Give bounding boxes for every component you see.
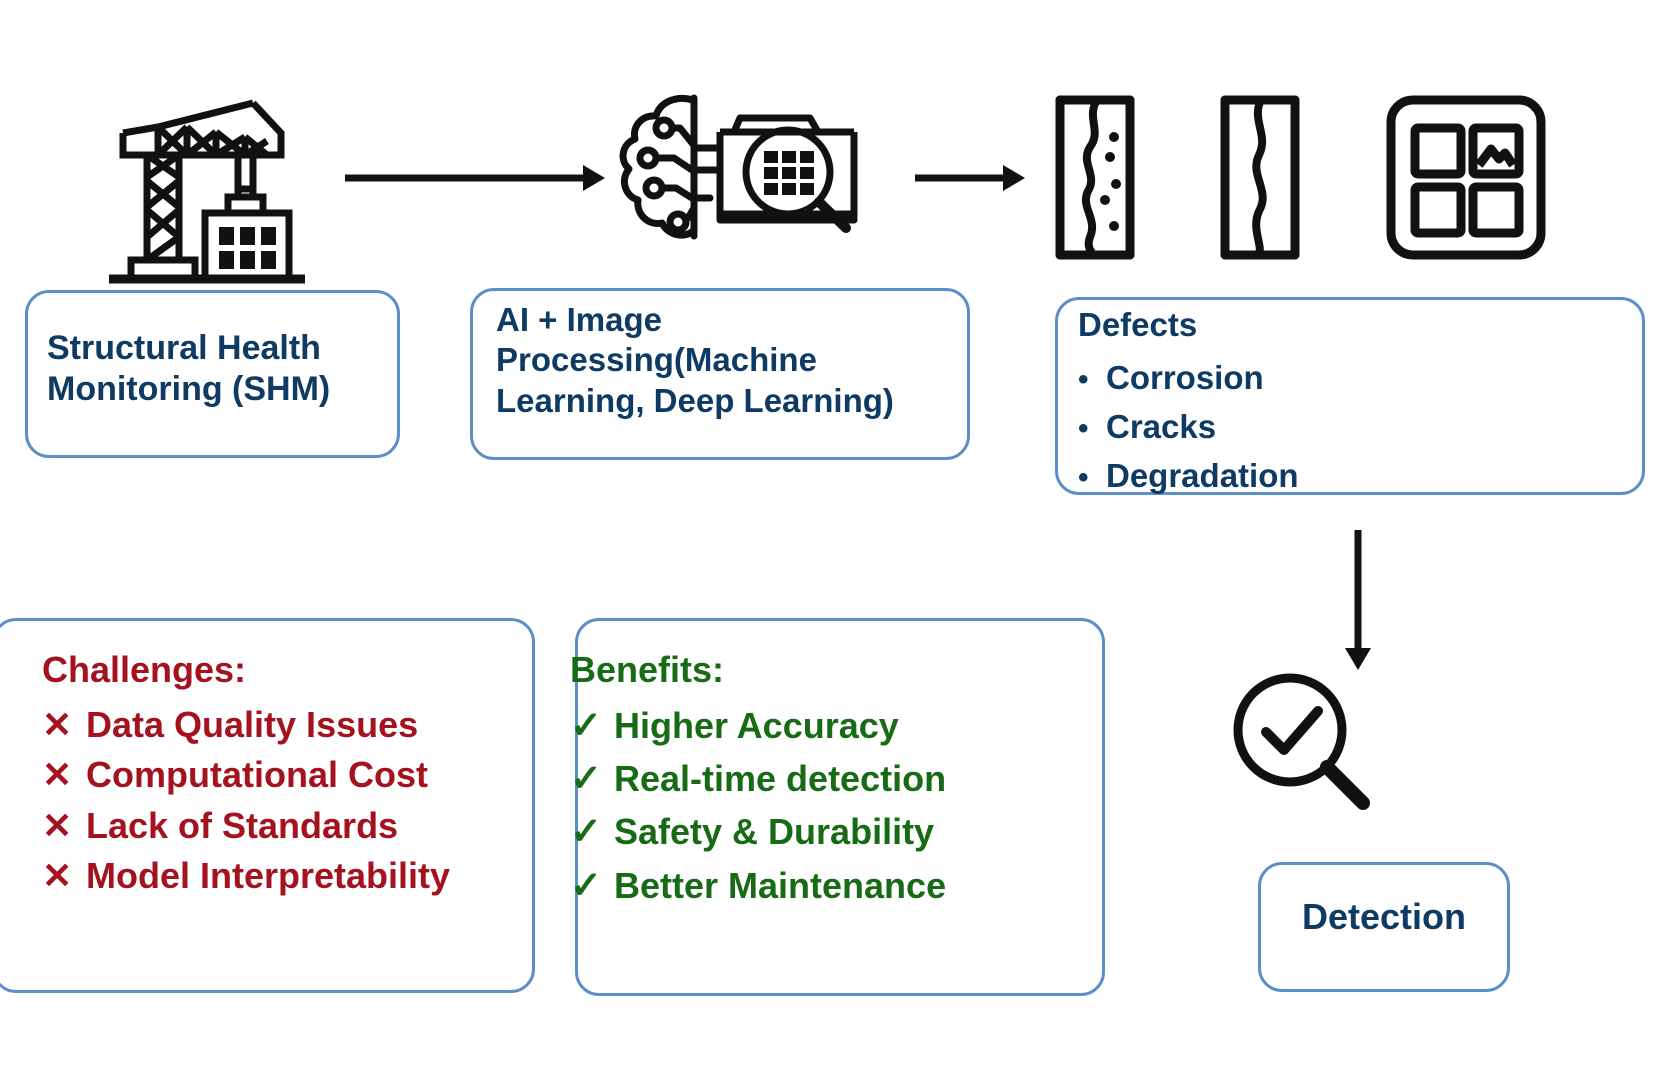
challenge-label: Lack of Standards: [86, 801, 398, 851]
challenges-title: Challenges:: [42, 652, 246, 688]
defect-label: Corrosion: [1106, 354, 1264, 403]
benefits-list: ✓ Higher Accuracy ✓ Real-time detection …: [570, 700, 946, 913]
benefits-title: Benefits:: [570, 652, 724, 688]
arrow-shm-to-ai: [345, 158, 605, 198]
detection-label: Detection: [1258, 895, 1510, 939]
bullet-icon: •: [1078, 463, 1106, 493]
list-item: ✓ Higher Accuracy: [570, 700, 946, 753]
list-item: ✓ Better Maintenance: [570, 860, 946, 913]
crack-line-icon: [1215, 95, 1305, 260]
challenge-label: Computational Cost: [86, 750, 428, 800]
cross-icon: ✕: [42, 700, 86, 750]
shm-label: Structural Health Monitoring (SHM): [47, 328, 387, 411]
cross-icon: ✕: [42, 851, 86, 901]
defects-list: • Corrosion • Cracks • Degradation: [1078, 354, 1578, 500]
list-item: ✕ Lack of Standards: [42, 801, 450, 851]
degradation-tiles-icon: [1383, 95, 1548, 260]
list-item: ✕ Data Quality Issues: [42, 700, 450, 750]
check-icon: ✓: [570, 700, 614, 753]
ai-brain-camera-icon: [588, 92, 868, 244]
challenge-label: Model Interpretability: [86, 851, 450, 901]
list-item: ✓ Safety & Durability: [570, 806, 946, 859]
bullet-icon: •: [1078, 365, 1106, 395]
benefit-label: Safety & Durability: [614, 807, 934, 857]
list-item: ✓ Real-time detection: [570, 753, 946, 806]
defects-title: Defects: [1078, 305, 1197, 345]
defect-label: Degradation: [1106, 452, 1299, 501]
arrow-defects-to-detection: [1335, 530, 1381, 670]
check-icon: ✓: [570, 806, 614, 859]
cross-icon: ✕: [42, 750, 86, 800]
arrow-ai-to-defects: [915, 158, 1025, 198]
check-icon: ✓: [570, 753, 614, 806]
construction-crane-icon: [95, 55, 310, 285]
magnifier-check-icon: [1228, 668, 1373, 813]
list-item: • Corrosion: [1078, 354, 1578, 403]
cross-icon: ✕: [42, 801, 86, 851]
challenges-list: ✕ Data Quality Issues ✕ Computational Co…: [42, 700, 450, 902]
list-item: • Cracks: [1078, 403, 1578, 452]
defect-label: Cracks: [1106, 403, 1216, 452]
challenge-label: Data Quality Issues: [86, 700, 418, 750]
diagram-canvas: Structural Health Monitoring (SHM) AI + …: [0, 0, 1658, 1076]
list-item: • Degradation: [1078, 452, 1578, 501]
benefit-label: Higher Accuracy: [614, 701, 899, 751]
bullet-icon: •: [1078, 414, 1106, 444]
ai-image-processing-label: AI + Image Processing(Machine Learning, …: [496, 300, 966, 421]
list-item: ✕ Computational Cost: [42, 750, 450, 800]
crack-with-corrosion-spots-icon: [1050, 95, 1140, 260]
benefit-label: Real-time detection: [614, 754, 946, 804]
check-icon: ✓: [570, 860, 614, 913]
benefit-label: Better Maintenance: [614, 861, 946, 911]
list-item: ✕ Model Interpretability: [42, 851, 450, 901]
